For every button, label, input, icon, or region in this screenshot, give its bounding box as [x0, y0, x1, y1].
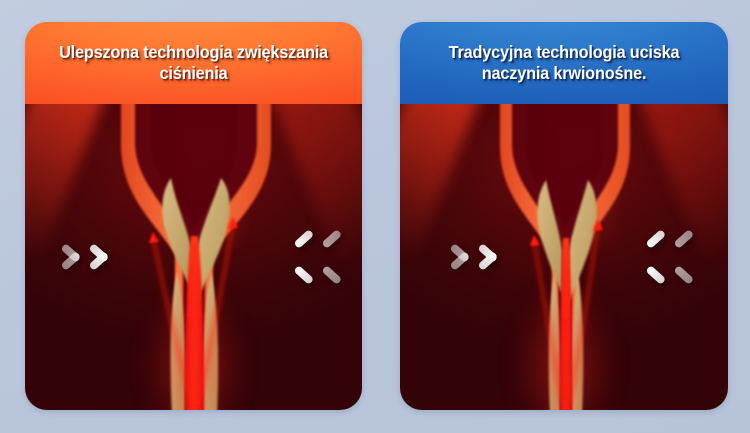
chevron-right-icon	[448, 234, 474, 280]
compression-chevrons-left	[448, 234, 502, 280]
chevron-left-icon	[626, 234, 652, 280]
panel-improved-technology: Ulepszona technologia zwiększania ciśnie…	[25, 22, 362, 410]
panel-improved-header: Ulepszona technologia zwiększania ciśnie…	[25, 22, 362, 104]
pressure-chevrons-right	[274, 234, 328, 280]
panel-traditional-header: Tradycyjna technologia uciska naczynia k…	[400, 22, 728, 104]
panel-improved-illustration	[25, 104, 362, 410]
chevron-right-icon	[87, 234, 113, 280]
chevron-right-icon	[59, 234, 85, 280]
chevron-left-icon	[654, 234, 680, 280]
chevron-left-icon	[274, 234, 300, 280]
pressure-chevrons-left	[59, 234, 113, 280]
panel-traditional-title: Tradycyjna technologia uciska naczynia k…	[449, 42, 680, 83]
chevron-left-icon	[302, 234, 328, 280]
comparison-figure: Ulepszona technologia zwiększania ciśnie…	[0, 0, 750, 433]
panel-improved-title: Ulepszona technologia zwiększania ciśnie…	[59, 42, 328, 83]
panel-traditional-illustration	[400, 104, 728, 410]
chevron-right-icon	[476, 234, 502, 280]
compression-chevrons-right	[626, 234, 680, 280]
panel-traditional-technology: Tradycyjna technologia uciska naczynia k…	[400, 22, 728, 410]
